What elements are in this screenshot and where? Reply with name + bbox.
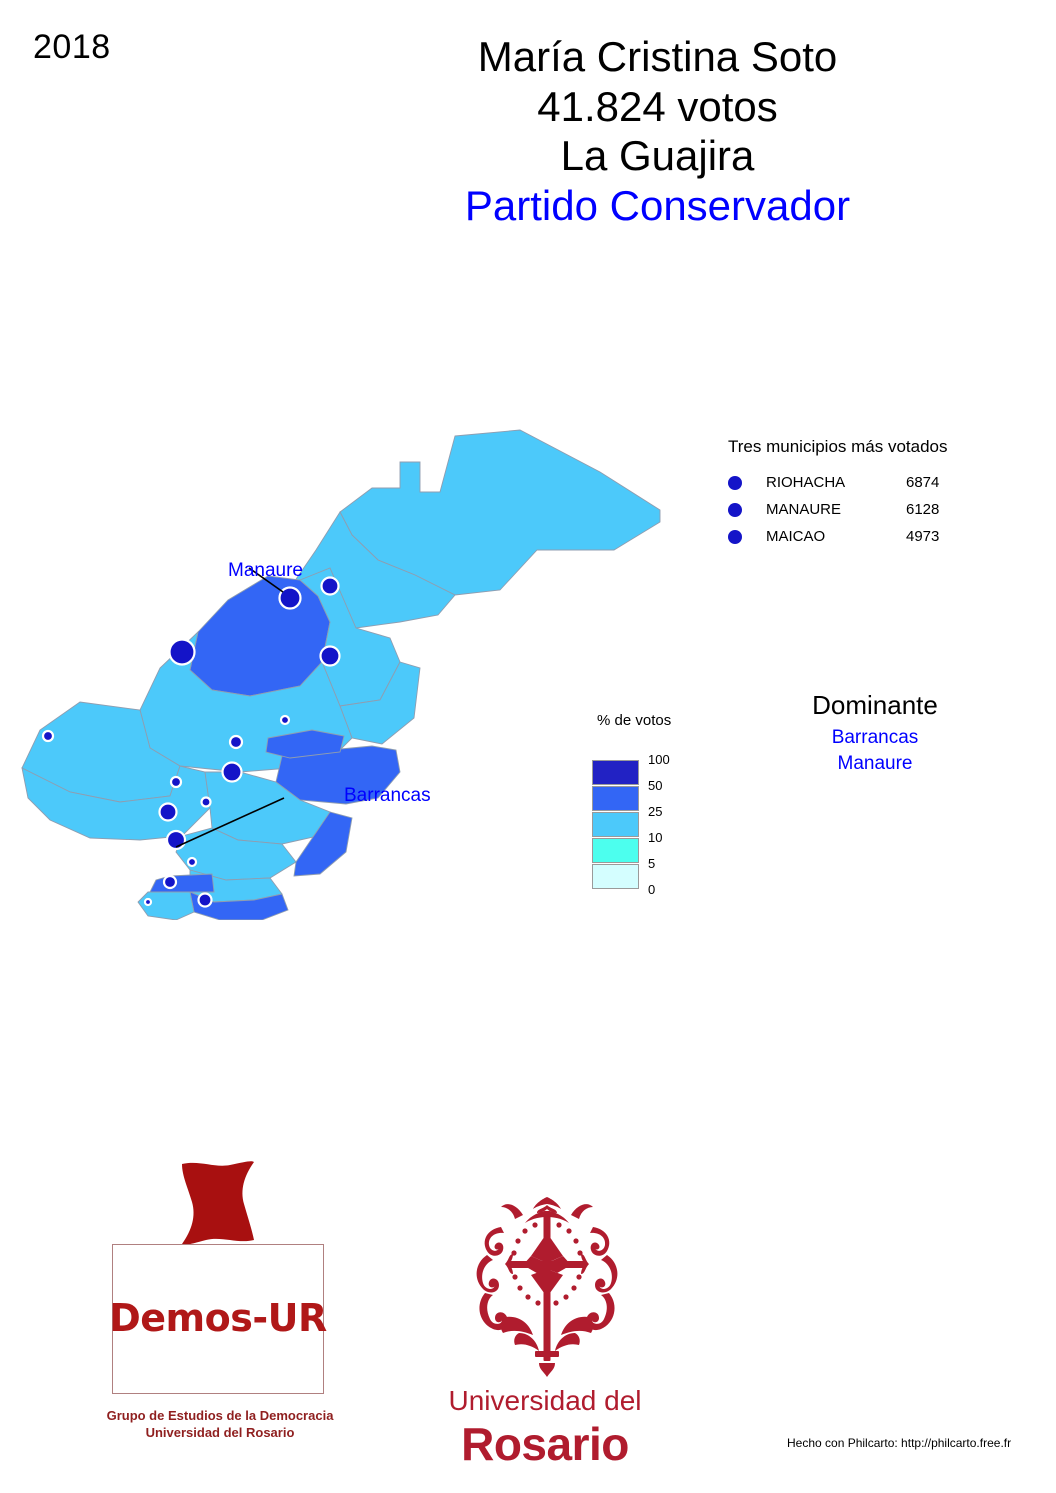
year-label: 2018 [33, 28, 111, 67]
top-municipalities-panel: Tres municipios más votados RIOHACHA 687… [728, 437, 988, 550]
department-name: La Guajira [300, 131, 1015, 181]
rosario-line1: Universidad del [437, 1385, 653, 1417]
symbol-dot-icon [728, 530, 742, 544]
legend-title: % de votos [597, 712, 671, 729]
legend-label: 100 [648, 752, 670, 767]
municipality-symbol [188, 858, 196, 866]
legend-swatch [592, 864, 639, 889]
map-label-manaure: Manaure [228, 560, 303, 582]
symbol-dot-icon [728, 476, 742, 490]
demos-caption: Grupo de Estudios de la Democracia Unive… [60, 1408, 380, 1442]
top-municipality-row: RIOHACHA 6874 [728, 469, 988, 496]
municipality-votes: 6128 [906, 501, 939, 518]
rosario-crest-icon [463, 1193, 631, 1383]
legend-swatch [592, 786, 639, 811]
map-label-barrancas: Barrancas [344, 785, 431, 807]
map-polygons [22, 430, 660, 920]
municipality-polygon [138, 892, 194, 920]
municipality-symbol [223, 763, 242, 782]
legend-swatch [592, 838, 639, 863]
vote-total: 41.824 votos [300, 82, 1015, 132]
municipality-symbol [202, 798, 211, 807]
municipality-name: MANAURE [766, 501, 906, 518]
top-municipalities-title: Tres municipios más votados [728, 437, 988, 457]
top-municipality-row: MAICAO 4973 [728, 523, 988, 550]
municipality-name: MAICAO [766, 528, 906, 545]
municipality-symbol [145, 899, 151, 905]
municipality-votes: 6874 [906, 474, 939, 491]
municipality-symbol [280, 588, 301, 609]
legend-swatch [592, 760, 639, 785]
municipality-symbol [322, 578, 339, 595]
candidate-name: María Cristina Soto [300, 32, 1015, 82]
legend-label: 25 [648, 804, 662, 819]
legend-swatches: 100 50 25 10 5 0 [592, 760, 639, 890]
municipality-votes: 4973 [906, 528, 939, 545]
legend-label: 10 [648, 830, 662, 845]
title-block: María Cristina Soto 41.824 votos La Guaj… [300, 32, 1015, 230]
rosario-line2: Rosario [437, 1417, 653, 1471]
municipality-symbol [230, 736, 242, 748]
municipality-symbol [281, 716, 289, 724]
symbol-dot-icon [728, 503, 742, 517]
municipality-symbol [160, 804, 177, 821]
municipality-symbol [171, 777, 181, 787]
legend-label: 0 [648, 882, 655, 897]
municipality-symbol [43, 731, 53, 741]
dominante-item: Manaure [760, 751, 990, 777]
legend-label: 5 [648, 856, 655, 871]
municipality-symbol [164, 876, 176, 888]
municipality-symbol [170, 640, 195, 665]
dominante-title: Dominante [760, 690, 990, 721]
dominante-item: Barrancas [760, 725, 990, 751]
legend-swatch [592, 812, 639, 837]
philcarto-credit: Hecho con Philcarto: http://philcarto.fr… [787, 1436, 1011, 1450]
municipality-symbol [199, 894, 212, 907]
demos-caption-line1: Grupo de Estudios de la Democracia [60, 1408, 380, 1425]
party-name: Partido Conservador [300, 181, 1015, 231]
demos-wordmark: Demos-UR [100, 1296, 336, 1340]
municipality-polygon [150, 874, 214, 892]
municipality-name: RIOHACHA [766, 474, 906, 491]
demos-caption-line2: Universidad del Rosario [60, 1425, 380, 1442]
municipality-symbol [321, 647, 340, 666]
dominante-panel: Dominante Barrancas Manaure [760, 690, 990, 776]
top-municipality-row: MANAURE 6128 [728, 496, 988, 523]
legend-label: 50 [648, 778, 662, 793]
